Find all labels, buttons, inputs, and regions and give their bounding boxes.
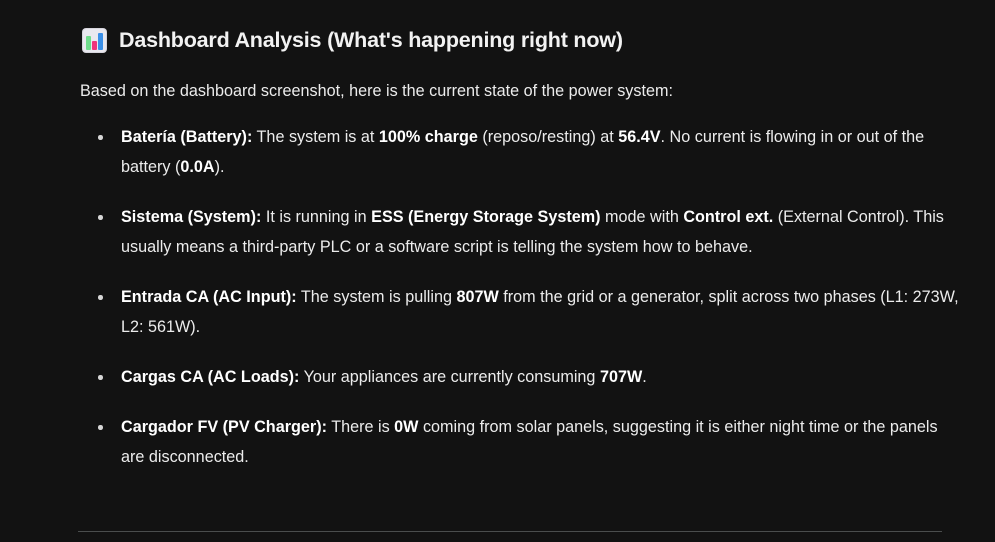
list-item-label: Batería (Battery): xyxy=(121,128,252,146)
list-item-text: ). xyxy=(215,158,225,176)
list-item: Cargas CA (AC Loads): Your appliances ar… xyxy=(80,362,960,392)
list-item-text: There is xyxy=(327,418,394,436)
bullet-dot-icon xyxy=(98,295,103,300)
list-item-emphasis: ESS (Energy Storage System) xyxy=(371,208,600,226)
page-title-text: Dashboard Analysis (What's happening rig… xyxy=(119,28,623,54)
list-item-text: Your appliances are currently consuming xyxy=(299,368,600,386)
list-item: Entrada CA (AC Input): The system is pul… xyxy=(80,282,960,342)
assistant-message-panel: Dashboard Analysis (What's happening rig… xyxy=(0,0,995,542)
intro-paragraph: Based on the dashboard screenshot, here … xyxy=(80,79,960,104)
bullet-dot-icon xyxy=(98,215,103,220)
bullet-dot-icon xyxy=(98,425,103,430)
bar-chart-icon-bar-pink xyxy=(92,41,97,50)
list-item-text: The system is at xyxy=(252,128,379,146)
list-item-emphasis: 707W xyxy=(600,368,642,386)
page-title: Dashboard Analysis (What's happening rig… xyxy=(82,28,623,54)
list-item-emphasis: 56.4V xyxy=(618,128,660,146)
bar-chart-icon xyxy=(82,28,107,53)
list-item-text: . xyxy=(642,368,647,386)
bar-chart-icon-bar-blue xyxy=(98,33,103,50)
section-divider xyxy=(78,531,942,532)
list-item-label: Entrada CA (AC Input): xyxy=(121,288,297,306)
list-item-emphasis: 100% charge xyxy=(379,128,478,146)
list-item: Sistema (System): It is running in ESS (… xyxy=(80,202,960,262)
bullet-dot-icon xyxy=(98,375,103,380)
list-item-text: (reposo/resting) at xyxy=(478,128,618,146)
summary-bullet-list: Batería (Battery): The system is at 100%… xyxy=(80,122,960,472)
list-item-label: Cargador FV (PV Charger): xyxy=(121,418,327,436)
bullet-dot-icon xyxy=(98,135,103,140)
list-item: Cargador FV (PV Charger): There is 0W co… xyxy=(80,412,960,472)
list-item-label: Sistema (System): xyxy=(121,208,261,226)
list-item-text: mode with xyxy=(601,208,684,226)
list-item-emphasis: Control ext. xyxy=(683,208,773,226)
bar-chart-icon-bar-green xyxy=(86,36,91,50)
list-item-text: It is running in xyxy=(261,208,371,226)
list-item-emphasis: 0W xyxy=(394,418,418,436)
list-item-emphasis: 807W xyxy=(457,288,499,306)
list-item-emphasis: 0.0A xyxy=(180,158,214,176)
list-item-label: Cargas CA (AC Loads): xyxy=(121,368,299,386)
list-item-text: The system is pulling xyxy=(297,288,457,306)
list-item: Batería (Battery): The system is at 100%… xyxy=(80,122,960,182)
